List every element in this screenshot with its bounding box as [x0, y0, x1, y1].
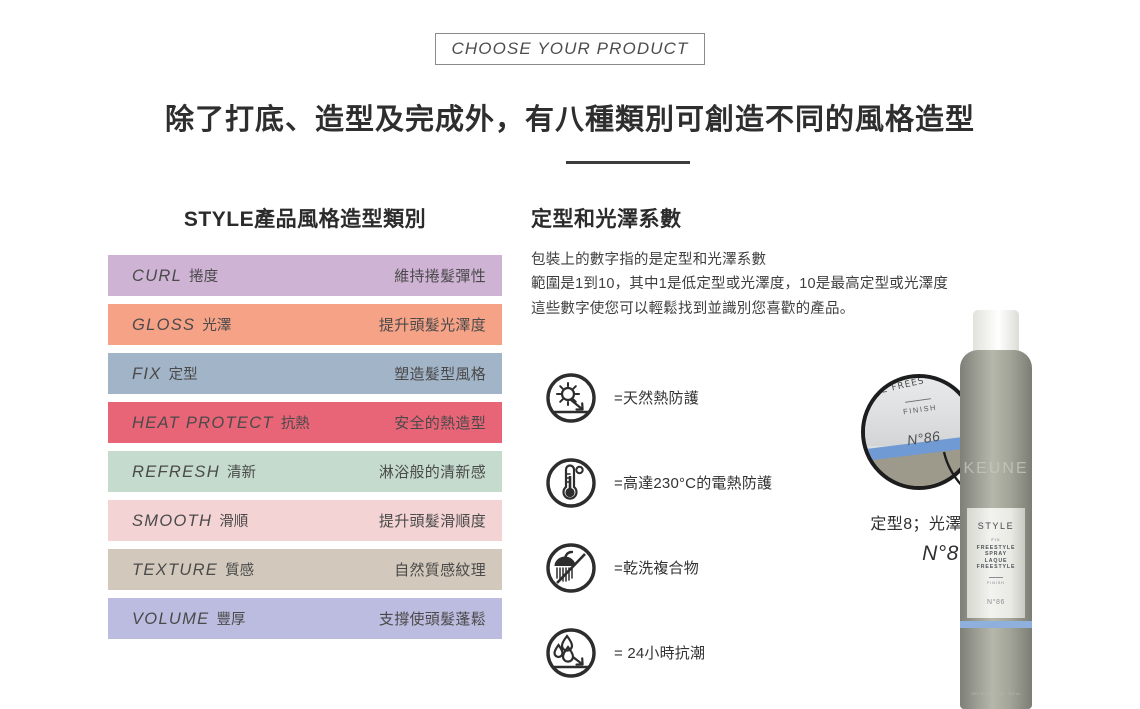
product-scale-code: N°86	[826, 542, 971, 566]
bottle-brand-text: KEUNE	[960, 460, 1032, 478]
style-categories-section: STYLE產品風格造型類別 CURL捲度維持捲髮彈性GLOSS光澤提升頭髮光澤度…	[108, 203, 502, 647]
category-description: 維持捲髮彈性	[394, 265, 486, 286]
category-name: CURL捲度	[132, 265, 218, 286]
category-name-en: GLOSS	[132, 316, 195, 334]
category-description: 淋浴般的清新感	[379, 461, 486, 482]
choose-product-badge: CHOOSE YOUR PRODUCT	[435, 33, 706, 65]
category-row[interactable]: REFRESH清新淋浴般的清新感	[108, 451, 502, 492]
category-name-cn: 滑順	[219, 514, 248, 530]
category-name: HEAT PROTECT抗熱	[132, 412, 310, 433]
category-row[interactable]: FIX定型塑造髮型風格	[108, 353, 502, 394]
category-description: 支撐使頭髮蓬鬆	[379, 608, 486, 629]
style-categories-title: STYLE產品風格造型類別	[108, 203, 502, 233]
category-name: TEXTURE質感	[132, 559, 254, 580]
bottle-label-number: N°86	[967, 599, 1025, 606]
category-name: REFRESH清新	[132, 461, 256, 482]
category-description: 提升頭髮滑順度	[379, 510, 486, 531]
category-row[interactable]: HEAT PROTECT抗熱安全的熱造型	[108, 402, 502, 443]
benefit-label-shower: =乾洗複合物	[614, 557, 699, 578]
category-name-cn: 清新	[227, 465, 256, 481]
product-showcase: E FREES FINISH N°86 定型8；光澤6 N°86 KEUNE S…	[840, 300, 1140, 709]
bottle-blue-stripe	[960, 621, 1032, 628]
benefit-label-thermometer: =高達230°C的電熱防護	[614, 472, 772, 493]
bottle-label-title: STYLE	[967, 521, 1025, 531]
category-description: 安全的熱造型	[394, 412, 486, 433]
bottle-label-name-en: FREESTYLE SPRAY	[967, 545, 1025, 557]
category-name-en: SMOOTH	[132, 512, 212, 530]
choose-product-badge-wrap: CHOOSE YOUR PRODUCT	[0, 33, 1140, 65]
category-name: VOLUME豐厚	[132, 608, 245, 629]
benefit-label-droplets: = 24小時抗潮	[614, 642, 705, 663]
product-bottle-image: KEUNE STYLE FIX FREESTYLE SPRAY LAQUE FR…	[960, 310, 1032, 709]
category-name-cn: 定型	[169, 367, 198, 383]
category-name-en: CURL	[132, 267, 182, 285]
category-name: FIX定型	[132, 363, 198, 384]
category-name-en: REFRESH	[132, 463, 220, 481]
category-name-cn: 光澤	[202, 318, 231, 334]
bottle-front-label: STYLE FIX FREESTYLE SPRAY LAQUE FREESTYL…	[967, 508, 1025, 618]
category-row[interactable]: SMOOTH滑順提升頭髮滑順度	[108, 500, 502, 541]
category-row[interactable]: CURL捲度維持捲髮彈性	[108, 255, 502, 296]
category-name-cn: 豐厚	[216, 612, 245, 628]
category-row[interactable]: VOLUME豐厚支撐使頭髮蓬鬆	[108, 598, 502, 639]
description-line: 範圍是1到10，其中1是低定型或光澤度，10是最高定型或光澤度	[531, 273, 1031, 295]
bottle-label-divider	[989, 577, 1003, 578]
category-name-en: HEAT PROTECT	[132, 414, 274, 432]
category-name-en: TEXTURE	[132, 561, 218, 579]
category-description: 提升頭髮光澤度	[379, 314, 486, 335]
category-name-en: FIX	[132, 365, 162, 383]
water-droplets-icon	[545, 627, 597, 679]
category-row[interactable]: GLOSS光澤提升頭髮光澤度	[108, 304, 502, 345]
benefit-label-sun: =天然熱防護	[614, 387, 699, 408]
no-shower-dry-wash-icon	[545, 542, 597, 594]
category-name-en: VOLUME	[132, 610, 209, 628]
category-row[interactable]: TEXTURE質感自然質感紋理	[108, 549, 502, 590]
category-name-cn: 抗熱	[281, 416, 310, 432]
sun-heat-protection-icon	[545, 372, 597, 424]
product-scale-text: 定型8；光澤6	[826, 510, 971, 534]
bottle-label-name-fr: LAQUE FREESTYLE	[967, 558, 1025, 570]
category-name-cn: 質感	[225, 563, 254, 579]
bottle-volume-text: NET WT. 10.2 OZ · 300 ml	[960, 688, 1032, 700]
page-title: 除了打底、造型及完成外，有八種類別可創造不同的風格造型	[0, 96, 1140, 138]
bottle-label-finish: FINISH	[967, 581, 1025, 585]
description-line: 包裝上的數字指的是定型和光澤系數	[531, 249, 1031, 271]
fix-gloss-title: 定型和光澤系數	[531, 203, 1031, 233]
category-name-cn: 捲度	[189, 269, 218, 285]
bottle-label-sub: FIX	[967, 537, 1025, 542]
category-description: 自然質感紋理	[394, 559, 486, 580]
category-name: SMOOTH滑順	[132, 510, 248, 531]
style-categories-list: CURL捲度維持捲髮彈性GLOSS光澤提升頭髮光澤度FIX定型塑造髮型風格HEA…	[108, 255, 502, 639]
thermometer-icon	[545, 457, 597, 509]
divider-rule	[566, 161, 690, 164]
category-description: 塑造髮型風格	[394, 363, 486, 384]
category-name: GLOSS光澤	[132, 314, 231, 335]
